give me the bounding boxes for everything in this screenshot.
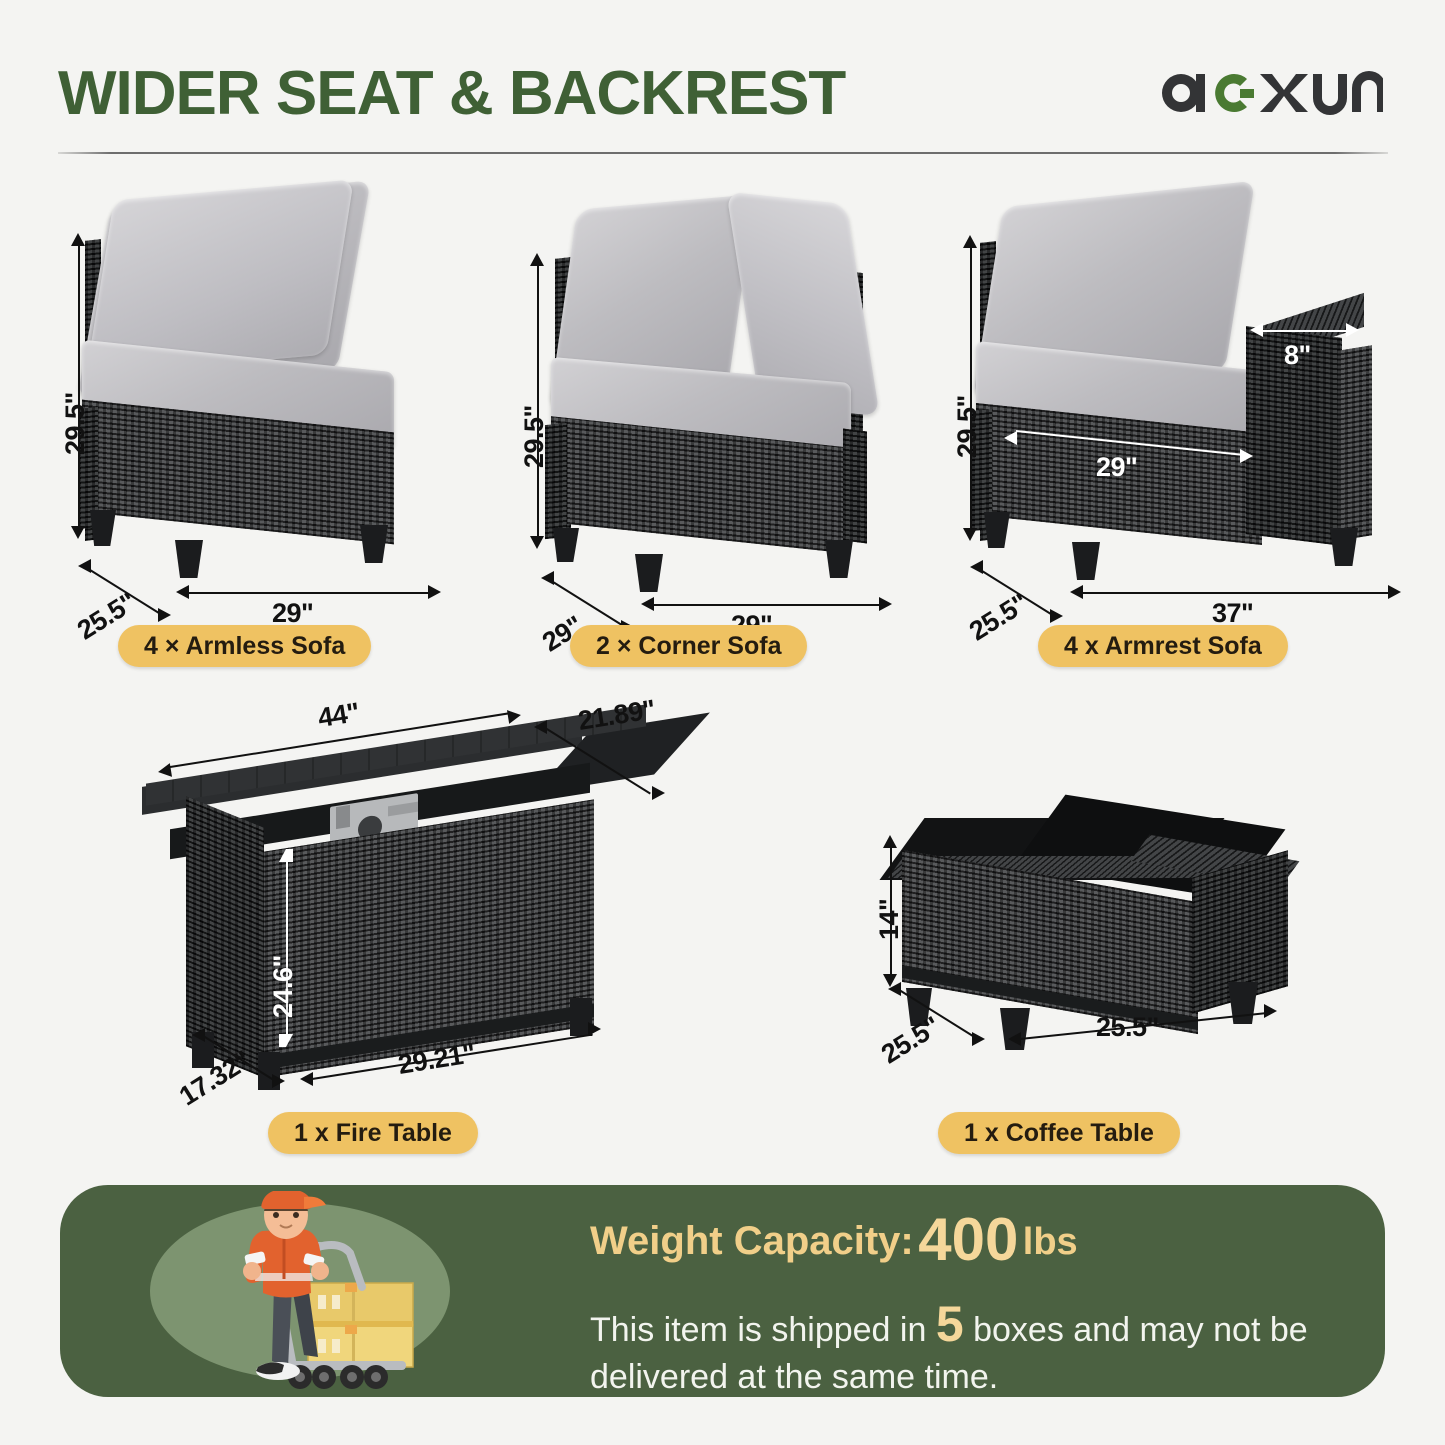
shipping-note-prefix: This item is shipped in	[590, 1311, 926, 1349]
dim-armrest-seatwidth: 29"	[1096, 452, 1137, 483]
aoxun-logo-icon	[1148, 62, 1383, 124]
weight-capacity-label: Weight Capacity:	[590, 1219, 914, 1263]
armless-sofa-illustration	[60, 180, 460, 600]
weight-capacity-value: 400	[918, 1206, 1018, 1273]
brand-logo	[1148, 62, 1383, 124]
item-fire-table: 44" 21.89" 24.6" 17.32" 29.21"	[130, 700, 750, 1120]
corner-sofa-illustration	[505, 180, 925, 600]
item-coffee-table: 14" 25.5" 25.5"	[840, 800, 1340, 1120]
dim-coffeetable-height: 14"	[874, 899, 905, 940]
dim-armrest-armwidth: 8"	[1284, 340, 1311, 371]
header-divider	[58, 152, 1388, 154]
delivery-man-icon	[200, 1191, 430, 1391]
dim-armless-height: 29.5"	[60, 392, 91, 455]
box-count: 5	[936, 1296, 964, 1352]
item-armrest-sofa: 29.5" 8" 29" 25.5" 37"	[950, 180, 1410, 660]
delivery-banner: Weight Capacity: 400 lbs This item is sh…	[60, 1185, 1385, 1397]
dim-coffeetable-width: 25.5"	[1096, 1012, 1159, 1043]
item-corner-sofa: 29.5" 29" 29"	[505, 180, 925, 660]
dim-corner-height: 29.5"	[519, 405, 550, 468]
cap-brim-icon	[304, 1197, 326, 1209]
badge-armrest-sofa: 4 x Armrest Sofa	[1038, 625, 1288, 667]
weight-capacity-unit: lbs	[1023, 1221, 1078, 1263]
badge-fire-table: 1 x Fire Table	[268, 1112, 478, 1154]
badge-coffee-table: 1 x Coffee Table	[938, 1112, 1180, 1154]
page-title: WIDER SEAT & BACKREST	[58, 58, 845, 129]
hand-icon	[243, 1262, 261, 1280]
page-header: WIDER SEAT & BACKREST	[0, 0, 1445, 160]
weight-capacity-line: Weight Capacity: 400 lbs	[590, 1205, 1078, 1274]
boxes-icon	[308, 1283, 413, 1367]
dim-armrest-height: 29.5"	[952, 395, 983, 458]
item-armless-sofa: 29.5" 25.5" 29"	[60, 180, 460, 660]
dim-firetable-length: 44"	[316, 697, 362, 734]
badge-corner-sofa: 2 × Corner Sofa	[570, 625, 807, 667]
shipping-note: This item is shipped in 5 boxes and may …	[590, 1293, 1380, 1398]
armrest-sofa-illustration	[950, 180, 1410, 600]
dim-firetable-height: 24.6"	[268, 955, 299, 1018]
badge-armless-sofa: 4 × Armless Sofa	[118, 625, 371, 667]
